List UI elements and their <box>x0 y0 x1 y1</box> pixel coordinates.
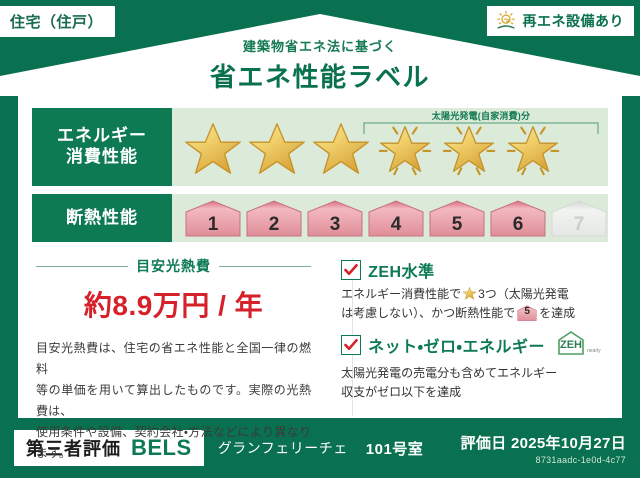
svg-text:ZEH: ZEH <box>560 339 582 351</box>
cost-note: 目安光熱費は、住宅の省エネ性能と全国一律の燃料 等の単価を用いて算出したものです… <box>36 338 311 464</box>
criterion-zeh-body: エネルギー消費性能で3つ（太陽光発電 は考慮しない）、かつ断熱性能で5を達成 <box>341 285 608 324</box>
zeh-body-text-a: エネルギー消費性能で <box>341 287 461 301</box>
insulation-chip-7: 7 <box>550 199 608 237</box>
renewable-badge-label: 再エネ設備あり <box>523 11 625 31</box>
net-zero-body-line1: 太陽光発電の売電分も含めてエネルギー <box>341 364 608 383</box>
insulation-chip-1: 1 <box>184 199 242 237</box>
criterion-net-zero: ネット・ゼロ・エネルギー ZEH nearly 太陽光発電の売電分も含めてエネル… <box>341 330 608 403</box>
label-title: 建築物省エネ法に基づく 省エネ性能ラベル <box>0 36 640 94</box>
lower-section: 目安光熱費 約8.9万円 / 年 目安光熱費は、住宅の省エネ性能と全国一律の燃料… <box>18 252 622 428</box>
energy-performance-label: エネルギー 消費性能 <box>32 108 172 186</box>
cost-heading-row: 目安光熱費 <box>36 256 311 276</box>
check-icon <box>344 264 358 276</box>
energy-star-2 <box>246 118 308 180</box>
energy-star-4-solar <box>374 118 436 180</box>
insulation-chip-6-value: 6 <box>513 215 524 234</box>
cost-heading: 目安光熱費 <box>136 256 211 276</box>
insulation-chip-4-value: 4 <box>391 215 402 234</box>
energy-star-band: 太陽光発電(自家消費)分 <box>172 108 608 186</box>
insulation-chip-5-value: 5 <box>452 215 463 234</box>
insulation-performance-row: 断熱性能 <box>32 194 608 242</box>
criteria-column: ZEH水準 エネルギー消費性能で3つ（太陽光発電 は考慮しない）、かつ断熱性能で… <box>325 252 622 428</box>
inline-star-icon <box>462 286 477 301</box>
inline-insulation-chip: 5 <box>517 305 537 321</box>
criterion-zeh-header: ZEH水準 <box>341 258 608 282</box>
zeh-body-text-b: 3つ（太陽光発電 <box>478 287 569 301</box>
check-icon <box>344 339 358 351</box>
renewable-equipment-badge: 再エネ設備あり <box>487 6 635 36</box>
insulation-chip-4: 4 <box>367 199 425 237</box>
insulation-scale: 1 2 3 4 <box>172 194 608 242</box>
energy-star-5-solar <box>438 118 500 180</box>
cost-note-line2: 等の単価を用いて算出したものです。実際の光熱費は、 <box>36 380 311 422</box>
cost-note-line1: 目安光熱費は、住宅の省エネ性能と全国一律の燃料 <box>36 338 311 380</box>
energy-performance-row: エネルギー 消費性能 太陽光発電(自家消費)分 <box>32 108 608 186</box>
label-card: エネルギー 消費性能 太陽光発電(自家消費)分 <box>18 96 622 418</box>
cost-value: 約8.9万円 / 年 <box>36 284 311 324</box>
zeh-body-text-c: は考慮しない）、かつ断熱性能で <box>341 306 515 320</box>
inline-chip-value: 5 <box>517 305 537 321</box>
rule-left <box>36 266 128 267</box>
criterion-zeh-level: ZEH水準 エネルギー消費性能で3つ（太陽光発電 は考慮しない）、かつ断熱性能で… <box>341 258 608 324</box>
criterion-zeh-title: ZEH水準 <box>368 258 435 282</box>
criterion-net-zero-body: 太陽光発電の売電分も含めてエネルギー 収支がゼロ以下を達成 <box>341 364 608 403</box>
insulation-chip-2: 2 <box>245 199 303 237</box>
title-subtitle: 建築物省エネ法に基づく <box>0 36 640 55</box>
criterion-zeh-body-line1: エネルギー消費性能で3つ（太陽光発電 <box>341 285 608 304</box>
insulation-chip-6: 6 <box>489 199 547 237</box>
energy-label-line1: エネルギー <box>57 126 147 147</box>
criterion-zeh-body-line2: は考慮しない）、かつ断熱性能で5を達成 <box>341 304 608 323</box>
zeh-logo-icon: ZEH nearly <box>556 330 608 356</box>
energy-star-1 <box>182 118 244 180</box>
energy-performance-label: 住宅（住戸） 再エネ設備あり 建築物省エネ法に基づく 省エネ性能ラベル <box>0 0 640 478</box>
evaluation-id: 8731aadc-1e0d-4c77 <box>461 455 626 465</box>
rule-right <box>219 266 311 267</box>
net-zero-body-line2: 収支がゼロ以下を達成 <box>341 383 608 402</box>
energy-cost-column: 目安光熱費 約8.9万円 / 年 目安光熱費は、住宅の省エネ性能と全国一律の燃料… <box>18 252 325 428</box>
evaluation-date: 評価日 2025年10月27日 <box>461 432 626 453</box>
insulation-chip-3-value: 3 <box>330 215 341 234</box>
zeh-body-text-d: を達成 <box>539 306 575 320</box>
zeh-house-logo: ZEH nearly <box>556 330 608 361</box>
insulation-chip-2-value: 2 <box>269 215 280 234</box>
criterion-net-zero-header: ネット・ゼロ・エネルギー ZEH nearly <box>341 330 608 361</box>
cost-note-line3: 使用条件や設備、契約会社・方法などにより異なります。 <box>36 422 311 464</box>
energy-star-6-solar <box>502 118 564 180</box>
insulation-chip-1-value: 1 <box>208 215 219 234</box>
evaluation-info: 評価日 2025年10月27日 8731aadc-1e0d-4c77 <box>461 432 626 465</box>
insulation-performance-label: 断熱性能 <box>32 194 172 242</box>
room-number: 101号室 <box>366 438 424 459</box>
insulation-chip-3: 3 <box>306 199 364 237</box>
housing-type-tag: 住宅（住戸） <box>0 6 115 37</box>
checkbox-net-zero <box>341 335 361 355</box>
title-main: 省エネ性能ラベル <box>0 57 640 94</box>
insulation-chip-5: 5 <box>428 199 486 237</box>
sun-icon <box>495 10 517 32</box>
criterion-net-zero-title: ネット・ゼロ・エネルギー <box>368 333 545 357</box>
energy-star-3 <box>310 118 372 180</box>
energy-label-line2: 消費性能 <box>66 147 138 168</box>
checkbox-zeh-level <box>341 260 361 280</box>
insulation-chip-7-value: 7 <box>574 215 585 234</box>
svg-text:nearly: nearly <box>587 348 601 354</box>
